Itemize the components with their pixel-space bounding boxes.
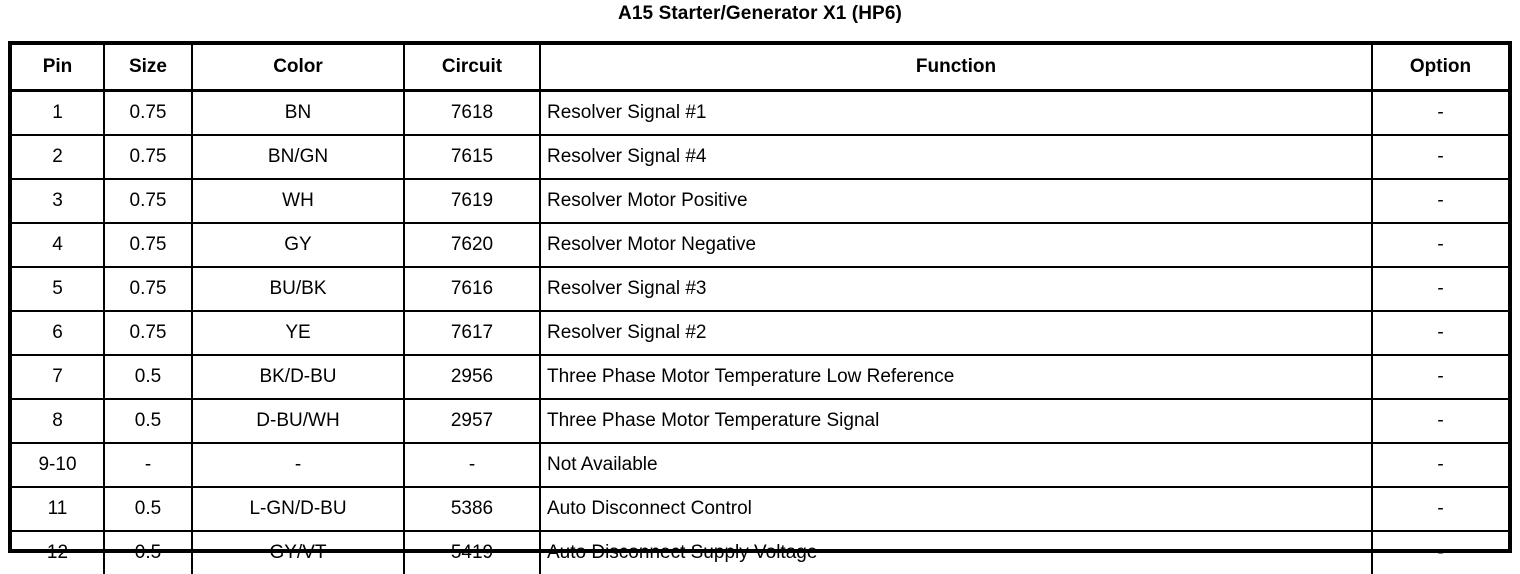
- table-row: 20.75BN/GN7615Resolver Signal #4-: [12, 135, 1508, 179]
- cell-option: -: [1372, 91, 1508, 136]
- table-row: 60.75YE7617Resolver Signal #2-: [12, 311, 1508, 355]
- column-header-size: Size: [104, 45, 192, 91]
- column-header-color: Color: [192, 45, 404, 91]
- table-row: 10.75BN7618Resolver Signal #1-: [12, 91, 1508, 136]
- cell-function: Resolver Motor Positive: [540, 179, 1372, 223]
- cell-circuit: 7620: [404, 223, 540, 267]
- column-header-option: Option: [1372, 45, 1508, 91]
- page-title: A15 Starter/Generator X1 (HP6): [0, 2, 1520, 26]
- cell-circuit: 5386: [404, 487, 540, 531]
- cell-function: Three Phase Motor Temperature Signal: [540, 399, 1372, 443]
- cell-circuit: -: [404, 443, 540, 487]
- cell-option: -: [1372, 399, 1508, 443]
- cell-pin: 1: [12, 91, 104, 136]
- table-row: 120.5GY/VT5419Auto Disconnect Supply Vol…: [12, 531, 1508, 574]
- cell-color: GY/VT: [192, 531, 404, 574]
- cell-option: -: [1372, 179, 1508, 223]
- cell-color: GY: [192, 223, 404, 267]
- cell-size: 0.75: [104, 91, 192, 136]
- table-row: 50.75BU/BK7616Resolver Signal #3-: [12, 267, 1508, 311]
- cell-pin: 9-10: [12, 443, 104, 487]
- cell-function: Resolver Signal #2: [540, 311, 1372, 355]
- table-row: 80.5D-BU/WH2957Three Phase Motor Tempera…: [12, 399, 1508, 443]
- cell-size: 0.75: [104, 135, 192, 179]
- cell-size: 0.5: [104, 355, 192, 399]
- cell-size: 0.75: [104, 223, 192, 267]
- cell-function: Resolver Signal #4: [540, 135, 1372, 179]
- table-body: 10.75BN7618Resolver Signal #1-20.75BN/GN…: [12, 91, 1508, 574]
- cell-function: Three Phase Motor Temperature Low Refere…: [540, 355, 1372, 399]
- cell-size: 0.5: [104, 487, 192, 531]
- cell-function: Resolver Signal #1: [540, 91, 1372, 136]
- cell-color: WH: [192, 179, 404, 223]
- table-row: 9-10---Not Available-: [12, 443, 1508, 487]
- cell-pin: 7: [12, 355, 104, 399]
- document-page: A15 Starter/Generator X1 (HP6) Pin Size …: [0, 0, 1520, 560]
- cell-function: Auto Disconnect Supply Voltage: [540, 531, 1372, 574]
- cell-circuit: 7618: [404, 91, 540, 136]
- cell-circuit: 2956: [404, 355, 540, 399]
- cell-option: -: [1372, 267, 1508, 311]
- pinout-table-container: Pin Size Color Circuit Function Option 1…: [8, 41, 1512, 553]
- cell-pin: 5: [12, 267, 104, 311]
- cell-function: Resolver Signal #3: [540, 267, 1372, 311]
- table-header-row: Pin Size Color Circuit Function Option: [12, 45, 1508, 91]
- cell-circuit: 7616: [404, 267, 540, 311]
- cell-color: BU/BK: [192, 267, 404, 311]
- cell-size: 0.75: [104, 179, 192, 223]
- cell-circuit: 7617: [404, 311, 540, 355]
- cell-color: BN/GN: [192, 135, 404, 179]
- cell-option: -: [1372, 443, 1508, 487]
- cell-option: -: [1372, 135, 1508, 179]
- cell-option: -: [1372, 223, 1508, 267]
- cell-color: YE: [192, 311, 404, 355]
- cell-color: BK/D-BU: [192, 355, 404, 399]
- cell-size: -: [104, 443, 192, 487]
- cell-pin: 4: [12, 223, 104, 267]
- column-header-function: Function: [540, 45, 1372, 91]
- cell-function: Resolver Motor Negative: [540, 223, 1372, 267]
- column-header-circuit: Circuit: [404, 45, 540, 91]
- cell-size: 0.5: [104, 531, 192, 574]
- cell-option: -: [1372, 355, 1508, 399]
- table-row: 30.75WH7619Resolver Motor Positive-: [12, 179, 1508, 223]
- table-row: 40.75GY7620Resolver Motor Negative-: [12, 223, 1508, 267]
- column-header-pin: Pin: [12, 45, 104, 91]
- cell-option: -: [1372, 531, 1508, 574]
- cell-option: -: [1372, 487, 1508, 531]
- cell-color: L-GN/D-BU: [192, 487, 404, 531]
- cell-color: BN: [192, 91, 404, 136]
- cell-color: D-BU/WH: [192, 399, 404, 443]
- cell-size: 0.5: [104, 399, 192, 443]
- table-row: 70.5BK/D-BU2956Three Phase Motor Tempera…: [12, 355, 1508, 399]
- cell-circuit: 2957: [404, 399, 540, 443]
- table-row: 110.5L-GN/D-BU5386Auto Disconnect Contro…: [12, 487, 1508, 531]
- cell-circuit: 5419: [404, 531, 540, 574]
- cell-option: -: [1372, 311, 1508, 355]
- cell-circuit: 7615: [404, 135, 540, 179]
- cell-pin: 12: [12, 531, 104, 574]
- cell-function: Not Available: [540, 443, 1372, 487]
- cell-size: 0.75: [104, 311, 192, 355]
- pinout-table: Pin Size Color Circuit Function Option 1…: [12, 45, 1508, 574]
- cell-pin: 11: [12, 487, 104, 531]
- table-header: Pin Size Color Circuit Function Option: [12, 45, 1508, 91]
- cell-function: Auto Disconnect Control: [540, 487, 1372, 531]
- cell-circuit: 7619: [404, 179, 540, 223]
- cell-size: 0.75: [104, 267, 192, 311]
- cell-pin: 2: [12, 135, 104, 179]
- cell-pin: 3: [12, 179, 104, 223]
- cell-pin: 6: [12, 311, 104, 355]
- cell-color: -: [192, 443, 404, 487]
- cell-pin: 8: [12, 399, 104, 443]
